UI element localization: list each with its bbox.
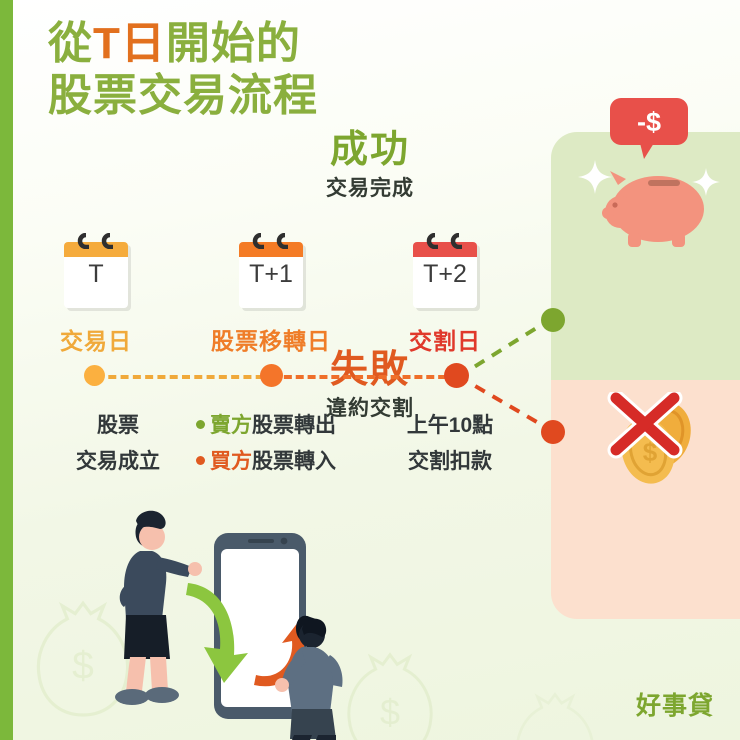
- infographic-canvas: $ $ $ 從T日開始的 股票交易流程: [0, 0, 740, 740]
- step-caption-1: 交易日: [6, 322, 186, 356]
- step-3-detail-line-1: 上午10點: [390, 408, 510, 444]
- calendar-date-label: T+1: [239, 260, 303, 289]
- branch-dot-failure: [541, 420, 565, 444]
- calendar-rings-icon: [239, 233, 303, 247]
- step-2-detail-line-1: 賣方股票轉出: [196, 408, 336, 444]
- branch-dot-success: [541, 308, 565, 332]
- bullet-buyer: [196, 456, 205, 465]
- seller-action: 股票轉出: [252, 414, 336, 437]
- money-bag-watermark: [500, 690, 610, 740]
- step-2-detail-line-2: 買方股票轉入: [196, 444, 336, 480]
- timeline-segment-1: [96, 375, 276, 379]
- page-title: 從T日開始的 股票交易流程: [48, 18, 318, 122]
- buyer-action: 股票轉入: [252, 450, 336, 473]
- step-caption-2: 股票移轉日: [181, 322, 361, 356]
- buyer-label: 買方: [210, 450, 252, 473]
- title-line-1: 從T日開始的: [48, 18, 318, 70]
- step-1-detail-line-2: 交易成立: [58, 444, 178, 480]
- calendar-step-3: T+2 交割日: [413, 242, 477, 308]
- step-1-detail-line-1: 股票: [58, 408, 178, 444]
- step-2-details: 賣方股票轉出 買方股票轉入: [196, 408, 336, 480]
- seller-label: 賣方: [210, 414, 252, 437]
- bullet-seller: [196, 420, 205, 429]
- timeline-dot-step-3: [444, 363, 469, 388]
- timeline-segment-2: [272, 375, 458, 379]
- success-title: 成功: [0, 118, 740, 173]
- svg-text:$: $: [72, 645, 94, 688]
- timeline-dot-step-1: [84, 365, 105, 386]
- calendar-step-2: T+1 股票移轉日: [239, 242, 303, 308]
- calendar-body: T: [64, 242, 128, 308]
- step-3-detail-line-2: 交割扣款: [390, 444, 510, 480]
- people-smartphone-transfer-illustration: [96, 495, 386, 740]
- title-prefix: 從: [48, 19, 93, 68]
- calendar-rings-icon: [413, 233, 477, 247]
- calendar-body: T+2: [413, 242, 477, 308]
- title-highlight: T日: [93, 19, 166, 68]
- calendar-date-label: T: [64, 260, 128, 289]
- title-line-2: 股票交易流程: [48, 70, 318, 122]
- calendar-rings-icon: [64, 233, 128, 247]
- timeline-dot-step-2: [260, 364, 283, 387]
- calendar-body: T+1: [239, 242, 303, 308]
- brand-logo: 好事貸: [636, 686, 714, 722]
- step-3-details: 上午10點 交割扣款: [390, 408, 510, 480]
- step-1-details: 股票 交易成立: [58, 408, 178, 480]
- calendar-date-label: T+2: [413, 260, 477, 289]
- success-subtitle: 交易完成: [0, 172, 740, 202]
- calendar-step-1: T 交易日: [64, 242, 128, 308]
- title-suffix: 開始的: [166, 19, 301, 68]
